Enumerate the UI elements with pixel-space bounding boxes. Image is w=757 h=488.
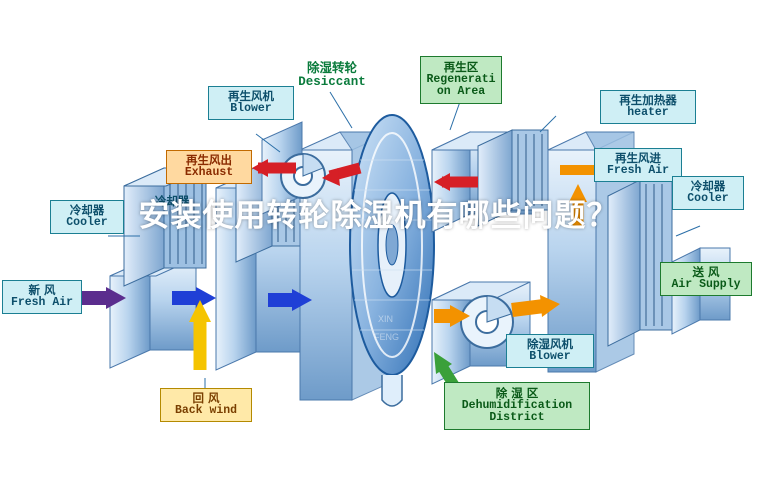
label-desiccant-rotor-en: Desiccant <box>298 75 366 89</box>
label-regeneration-area: 再生区 Regenerati on Area <box>420 56 502 104</box>
dehumidifier-schematic <box>0 0 757 488</box>
label-back-wind: 回 风 Back wind <box>160 388 252 422</box>
label-fresh-air: 新 风 Fresh Air <box>2 280 82 314</box>
label-regeneration-exhaust: 再生风出 Exhaust <box>166 150 252 184</box>
label-regeneration-exhaust-en: Exhaust <box>185 167 233 180</box>
label-cooler-left-2: 冷却器 <box>144 192 200 210</box>
label-cooler-right-en: Cooler <box>687 193 728 206</box>
label-regeneration-heater-en: heater <box>627 107 668 120</box>
label-air-supply-en: Air Supply <box>671 279 740 292</box>
label-fresh-air-en: Fresh Air <box>11 297 73 310</box>
label-regeneration-fresh-air-en: Fresh Air <box>607 165 669 178</box>
label-dehumidification-district-en: Dehumidification District <box>462 400 572 426</box>
label-dehumidification-blower-en: Blower <box>529 351 570 364</box>
label-regeneration-heater: 再生加热器 heater <box>600 90 696 124</box>
label-cooler-right: 冷却器 Cooler <box>672 176 744 210</box>
label-cooler-left: 冷却器 Cooler <box>50 200 124 234</box>
duct-fresh-air <box>110 258 196 368</box>
label-cooler-left-2-cn: 冷却器 <box>155 195 190 208</box>
label-dehumidification-blower: 除湿风机 Blower <box>506 334 594 368</box>
label-regeneration-fresh-air: 再生风进 Fresh Air <box>594 148 682 182</box>
label-regeneration-area-en: Regenerati on Area <box>426 74 495 100</box>
label-regeneration-blower-en: Blower <box>230 103 271 116</box>
label-back-wind-en: Back wind <box>175 405 237 418</box>
diagram-canvas: 除湿转轮 Desiccant 再生区 Regenerati on Area 再生… <box>0 0 757 488</box>
cooler-left-coil <box>124 168 206 286</box>
label-regeneration-area-cn: 再生区 <box>444 61 479 74</box>
label-dehumidification-district-cn: 除 湿 区 <box>496 387 539 400</box>
label-cooler-left-en: Cooler <box>66 217 107 230</box>
label-air-supply: 送 风 Air Supply <box>660 262 752 296</box>
label-regeneration-blower: 再生风机 Blower <box>208 86 294 120</box>
watermark-1: XIN <box>378 314 393 324</box>
label-desiccant-rotor-cn: 除湿转轮 <box>307 61 357 75</box>
label-dehumidification-district: 除 湿 区 Dehumidification District <box>444 382 590 430</box>
watermark-2: FENG <box>374 332 399 342</box>
label-desiccant-rotor: 除湿转轮 Desiccant <box>286 58 378 92</box>
